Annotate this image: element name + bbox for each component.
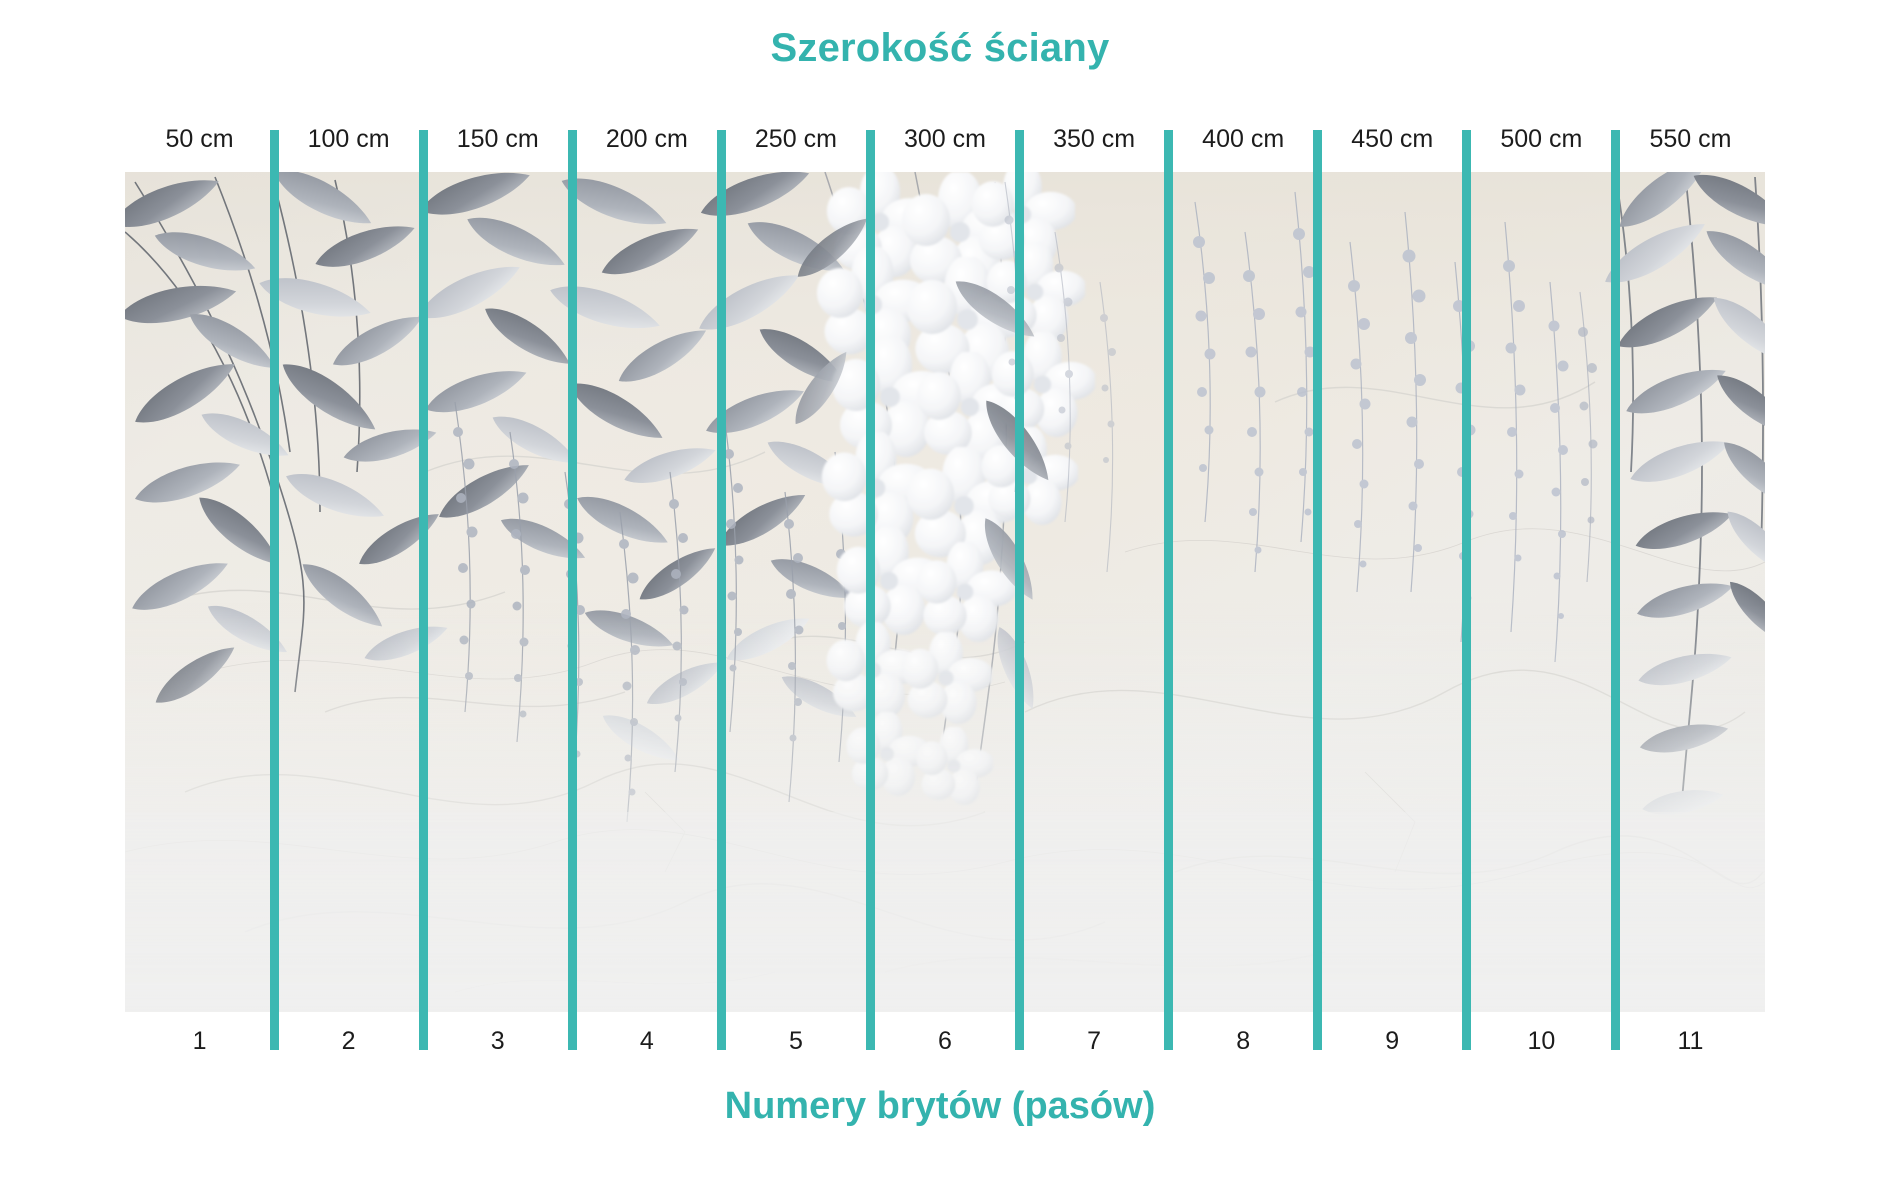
width-label-8: 400 cm (1169, 122, 1318, 156)
strip-number-1: 1 (125, 1024, 274, 1058)
strip-number-8: 8 (1169, 1024, 1318, 1058)
strip-number-5: 5 (721, 1024, 870, 1058)
width-scale-row: 50 cm100 cm150 cm200 cm250 cm300 cm350 c… (125, 122, 1765, 156)
width-label-11: 550 cm (1616, 122, 1765, 156)
width-label-10: 500 cm (1467, 122, 1616, 156)
strip-number-9: 9 (1318, 1024, 1467, 1058)
width-label-5: 250 cm (721, 122, 870, 156)
width-label-9: 450 cm (1318, 122, 1467, 156)
mural-artwork (125, 172, 1765, 1012)
strip-number-7: 7 (1020, 1024, 1169, 1058)
wallpaper-mural-preview (125, 172, 1765, 1012)
strip-number-4: 4 (572, 1024, 721, 1058)
strip-number-10: 10 (1467, 1024, 1616, 1058)
page-title-wall-width: Szerokość ściany (0, 26, 1880, 70)
strip-number-3: 3 (423, 1024, 572, 1058)
width-label-7: 350 cm (1020, 122, 1169, 156)
strip-number-11: 11 (1616, 1024, 1765, 1058)
page-caption-strip-numbers: Numery brytów (pasów) (0, 1086, 1880, 1128)
width-label-6: 300 cm (870, 122, 1019, 156)
width-label-1: 50 cm (125, 122, 274, 156)
width-label-3: 150 cm (423, 122, 572, 156)
strip-number-row: 1234567891011 (125, 1024, 1765, 1058)
width-label-4: 200 cm (572, 122, 721, 156)
strip-number-2: 2 (274, 1024, 423, 1058)
width-label-2: 100 cm (274, 122, 423, 156)
strip-number-6: 6 (870, 1024, 1019, 1058)
